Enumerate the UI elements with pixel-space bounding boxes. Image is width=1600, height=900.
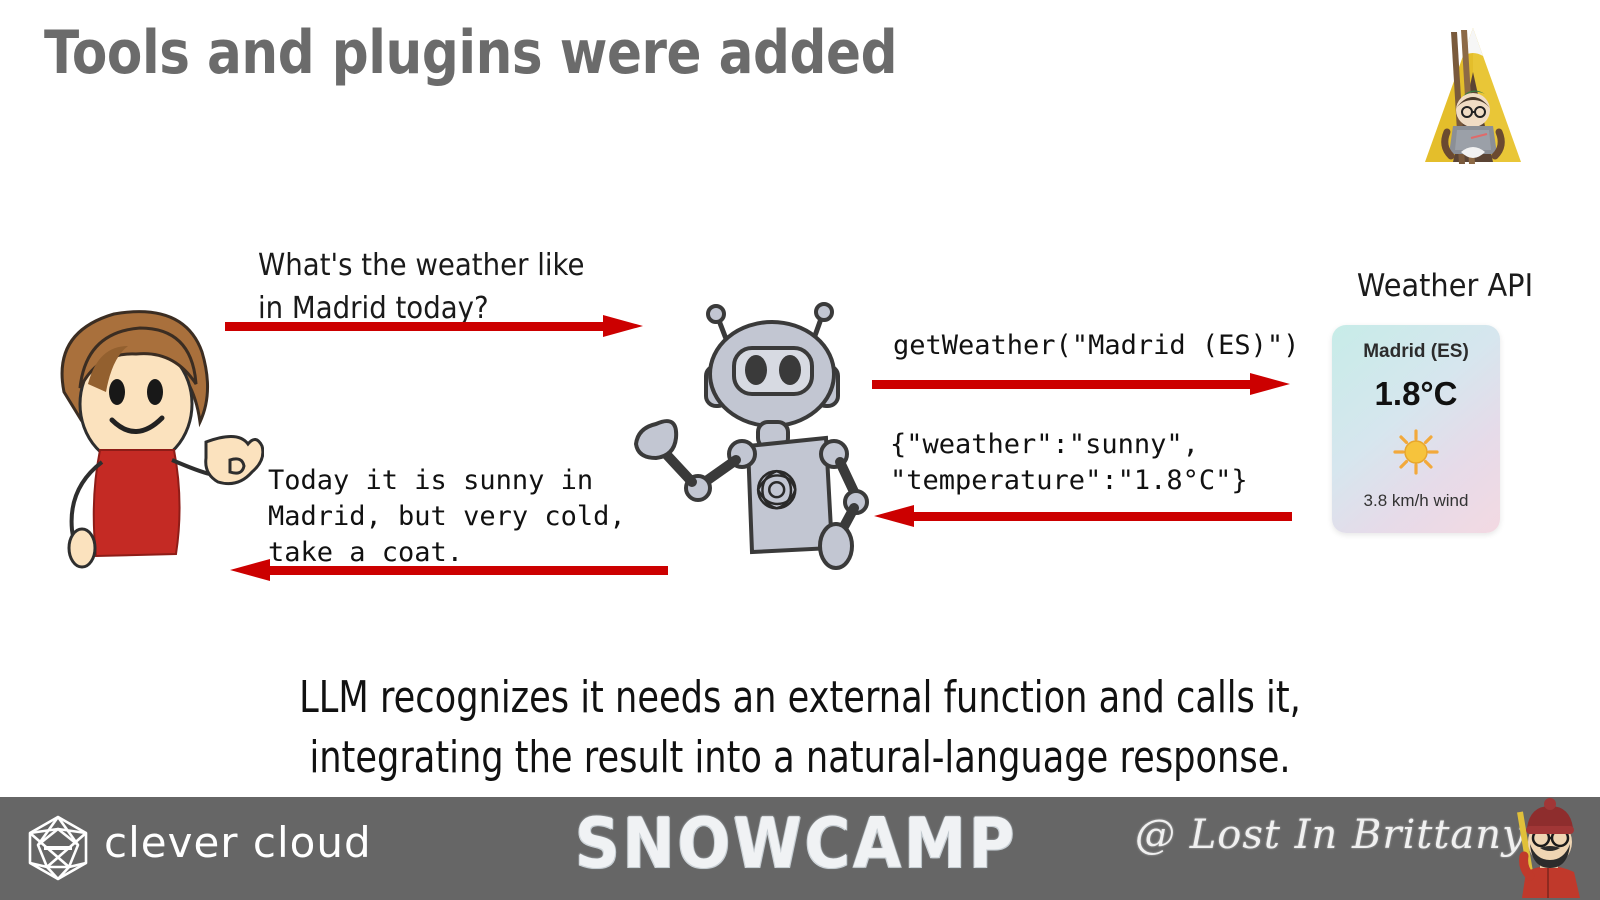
arrow-llm-to-user-icon: [228, 556, 668, 584]
weather-city-label: Madrid (ES): [1363, 341, 1469, 363]
sun-icon: [1393, 429, 1439, 475]
clever-cloud-wordmark: clever cloud: [104, 818, 372, 867]
clever-cloud-polyhedron-icon: [22, 812, 94, 884]
arrow-llm-to-api-icon: [872, 370, 1292, 398]
slide-caption: LLM recognizes it needs an external func…: [160, 668, 1440, 788]
weather-api-label: Weather API: [1338, 268, 1552, 304]
speaker-handle: @ Lost In Brittany: [1135, 812, 1526, 858]
page-title: Tools and plugins were added: [44, 18, 897, 88]
snowcamp-tent-icon: [1395, 14, 1550, 174]
weather-card: Madrid (ES) 1.8°C 3.8 km/h wind: [1332, 325, 1500, 533]
tool-call-text: getWeather("Madrid (ES)"): [893, 328, 1299, 364]
arrow-user-to-llm-icon: [225, 312, 645, 340]
snowcamp-wordmark: SNOWCAMP: [575, 802, 1017, 884]
weather-temperature-value: 1.8°C: [1375, 375, 1458, 413]
speaker-avatar-icon: [1500, 798, 1596, 898]
tool-result-text: {"weather":"sunny", "temperature":"1.8°C…: [890, 427, 1248, 499]
weather-wind-value: 3.8 km/h wind: [1364, 491, 1469, 511]
arrow-api-to-llm-icon: [872, 502, 1292, 530]
